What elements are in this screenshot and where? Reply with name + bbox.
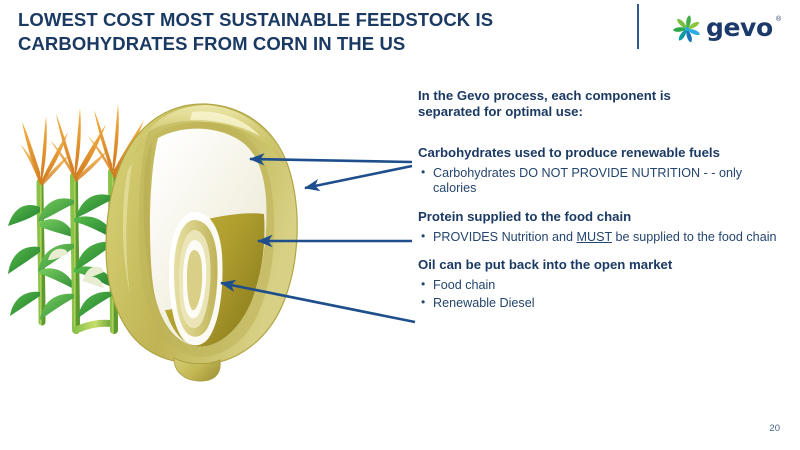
gevo-pinwheel-icon — [672, 14, 702, 44]
page-title: LOWEST COST MOST SUSTAINABLE FEEDSTOCK I… — [18, 8, 618, 55]
section-carbohydrates-heading: Carbohydrates used to produce renewable … — [418, 145, 788, 161]
section-protein: Protein supplied to the food chain PROVI… — [418, 209, 788, 245]
list-item: Food chain — [418, 278, 788, 293]
brand-registered-mark: ® — [776, 16, 781, 23]
brand-logo: gevo ® — [672, 12, 792, 46]
section-oil: Oil can be put back into the open market… — [418, 257, 788, 311]
intro-line-1: In the Gevo process, each component is — [418, 88, 671, 103]
intro-text: In the Gevo process, each component is s… — [418, 88, 788, 119]
list-item-post: be supplied to the food chain — [612, 230, 777, 244]
content-panel: In the Gevo process, each component is s… — [418, 88, 788, 324]
page-title-line-2: CARBOHYDRATES FROM CORN IN THE US — [18, 32, 618, 56]
list-item-emphasis: MUST — [577, 230, 612, 244]
section-carbohydrates-bullets: Carbohydrates DO NOT PROVIDE NUTRITION -… — [418, 166, 788, 196]
list-item: Carbohydrates DO NOT PROVIDE NUTRITION -… — [418, 166, 788, 196]
page-number: 20 — [769, 423, 780, 434]
header-divider — [637, 4, 639, 49]
brand-wordmark: gevo — [706, 13, 773, 42]
section-oil-bullets: Food chain Renewable Diesel — [418, 278, 788, 311]
section-protein-bullets: PROVIDES Nutrition and MUST be supplied … — [418, 230, 788, 245]
section-oil-heading: Oil can be put back into the open market — [418, 257, 788, 273]
list-item-pre: PROVIDES Nutrition and — [433, 230, 577, 244]
intro-line-2: separated for optimal use: — [418, 104, 583, 119]
page-title-line-1: LOWEST COST MOST SUSTAINABLE FEEDSTOCK I… — [18, 8, 618, 32]
list-item: Renewable Diesel — [418, 296, 788, 311]
section-carbohydrates: Carbohydrates used to produce renewable … — [418, 145, 788, 196]
corn-illustration — [6, 72, 406, 392]
slide-canvas: LOWEST COST MOST SUSTAINABLE FEEDSTOCK I… — [0, 0, 800, 450]
section-protein-heading: Protein supplied to the food chain — [418, 209, 788, 225]
corn-kernel-cross-section-illustration — [6, 72, 326, 382]
list-item: PROVIDES Nutrition and MUST be supplied … — [418, 230, 788, 245]
